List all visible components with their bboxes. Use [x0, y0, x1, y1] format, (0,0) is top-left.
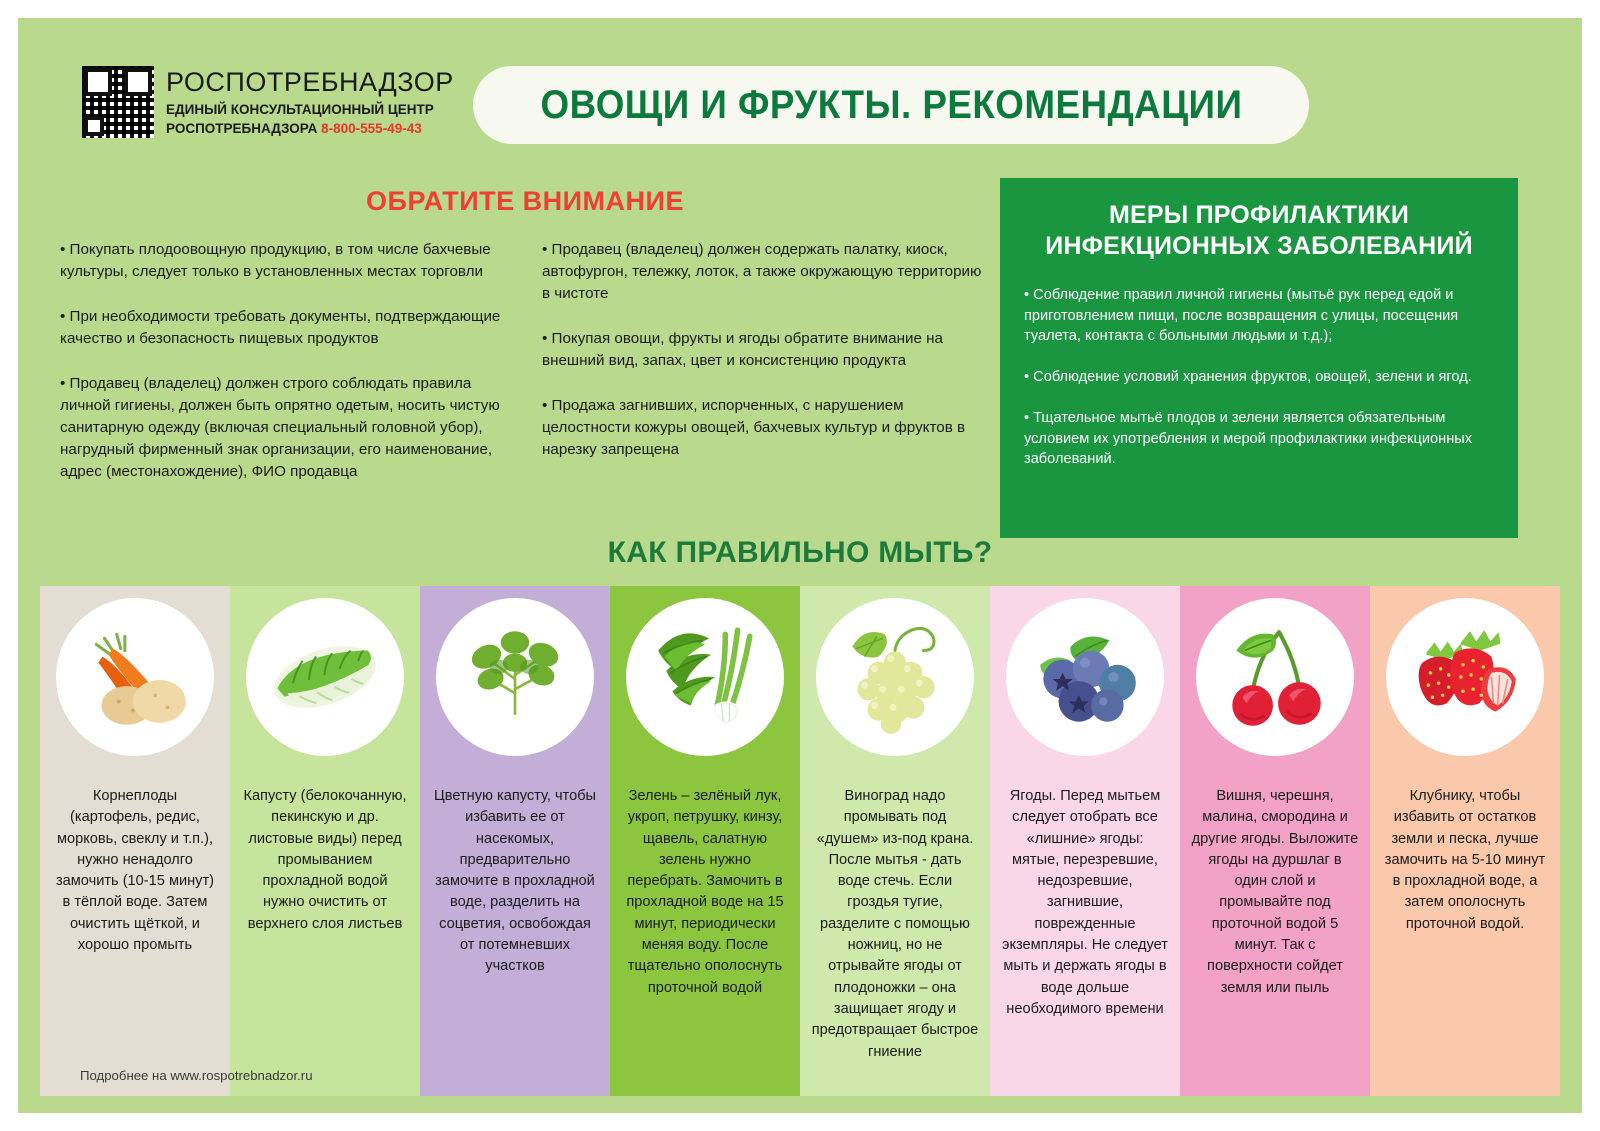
- image-circle: [626, 598, 784, 756]
- image-circle: [1386, 598, 1544, 756]
- blueberries-icon: [1024, 616, 1146, 738]
- stamp-notches-bottom: [0, 1113, 1600, 1131]
- cauliflower-icon: [454, 616, 576, 738]
- attention-item: • Продажа загнивших, испорченных, с нару…: [542, 395, 990, 461]
- howto-column-cabbage: Капусту (белокочанную, пекинскую и др. л…: [230, 586, 420, 1096]
- footer-note: Подробнее на www.rospotrebnadzor.ru: [80, 1068, 313, 1083]
- brand-name: РОСПОТРЕБНАДЗОР: [166, 68, 454, 96]
- carrot-potato-icon: [74, 616, 196, 738]
- image-circle: [1006, 598, 1164, 756]
- howto-column-cauliflower: Цветную капусту, чтобы избавить ее от на…: [420, 586, 610, 1096]
- attention-item: • Покупать плодоовощную продукцию, в том…: [60, 239, 508, 283]
- prevention-heading: МЕРЫ ПРОФИЛАКТИКИ ИНФЕКЦИОННЫХ ЗАБОЛЕВАН…: [1024, 200, 1494, 261]
- title-banner: ОВОЩИ И ФРУКТЫ. РЕКОМЕНДАЦИИ: [473, 66, 1309, 144]
- howto-column-cherries: Вишня, черешня, малина, смородина и друг…: [1180, 586, 1370, 1096]
- brand-block: РОСПОТРЕБНАДЗОР ЕДИНЫЙ КОНСУЛЬТАЦИОННЫЙ …: [82, 66, 454, 138]
- attention-column-left: • Покупать плодоовощную продукцию, в том…: [60, 239, 508, 506]
- page-title: ОВОЩИ И ФРУКТЫ. РЕКОМЕНДАЦИИ: [540, 83, 1242, 128]
- howto-column-text: Капусту (белокочанную, пекинскую и др. л…: [230, 786, 420, 935]
- howto-heading: КАК ПРАВИЛЬНО МЫТЬ?: [18, 536, 1582, 570]
- howto-column-greens: Зелень – зелёный лук, укроп, петрушку, к…: [610, 586, 800, 1096]
- howto-column-text: Зелень – зелёный лук, укроп, петрушку, к…: [610, 786, 800, 999]
- attention-heading: ОБРАТИТЕ ВНИМАНИЕ: [60, 186, 990, 217]
- prevention-item: • Соблюдение правил личной гигиены (мыть…: [1024, 285, 1494, 347]
- image-circle: [1196, 598, 1354, 756]
- brand-text: РОСПОТРЕБНАДЗОР ЕДИНЫЙ КОНСУЛЬТАЦИОННЫЙ …: [166, 66, 454, 138]
- attention-section: ОБРАТИТЕ ВНИМАНИЕ • Покупать плодоовощну…: [60, 186, 990, 506]
- attention-item: • Продавец (владелец) должен содержать п…: [542, 239, 990, 305]
- howto-column-text: Ягоды. Перед мытьем следует отобрать все…: [990, 786, 1180, 1020]
- prevention-box: МЕРЫ ПРОФИЛАКТИКИ ИНФЕКЦИОННЫХ ЗАБОЛЕВАН…: [1000, 178, 1518, 538]
- attention-item: • Продавец (владелец) должен строго собл…: [60, 373, 508, 483]
- brand-sub-line1: ЕДИНЫЙ КОНСУЛЬТАЦИОННЫЙ ЦЕНТР: [166, 102, 434, 117]
- image-circle: [816, 598, 974, 756]
- poster-canvas: РОСПОТРЕБНАДЗОР ЕДИНЫЙ КОНСУЛЬТАЦИОННЫЙ …: [18, 18, 1582, 1113]
- poster-root: РОСПОТРЕБНАДЗОР ЕДИНЫЙ КОНСУЛЬТАЦИОННЫЙ …: [0, 0, 1600, 1131]
- hotline-phone[interactable]: 8-800-555-49-43: [321, 121, 422, 136]
- howto-column-strawberries: Клубнику, чтобы избавить от остатков зем…: [1370, 586, 1560, 1096]
- qr-code-icon: [82, 66, 154, 138]
- attention-item: • Покупая овощи, фрукты и ягоды обратите…: [542, 328, 990, 372]
- prevention-item: • Соблюдение условий хранения фруктов, о…: [1024, 367, 1494, 388]
- howto-column-root-vegetables: Корнеплоды (картофель, редис, морковь, с…: [40, 586, 230, 1096]
- howto-column-grapes: Виноград надо промывать под «душем» из-п…: [800, 586, 990, 1096]
- image-circle: [436, 598, 594, 756]
- strawberries-icon: [1404, 616, 1526, 738]
- prevention-heading-line2: ИНФЕКЦИОННЫХ ЗАБОЛЕВАНИЙ: [1045, 232, 1473, 260]
- howto-columns-strip: Корнеплоды (картофель, редис, морковь, с…: [40, 586, 1560, 1096]
- stamp-notches-left: [0, 0, 18, 1131]
- napa-cabbage-icon: [264, 616, 386, 738]
- howto-column-text: Вишня, черешня, малина, смородина и друг…: [1180, 786, 1370, 999]
- grapes-icon: [834, 616, 956, 738]
- brand-sub-line2: РОСПОТРЕБНАДЗОРА: [166, 121, 317, 136]
- cherries-icon: [1214, 616, 1336, 738]
- brand-subtitle: ЕДИНЫЙ КОНСУЛЬТАЦИОННЫЙ ЦЕНТР РОСПОТРЕБН…: [166, 101, 454, 137]
- howto-column-berries: Ягоды. Перед мытьем следует отобрать все…: [990, 586, 1180, 1096]
- attention-item: • При необходимости требовать документы,…: [60, 306, 508, 350]
- howto-column-text: Виноград надо промывать под «душем» из-п…: [800, 786, 990, 1063]
- prevention-item: • Тщательное мытьё плодов и зелени являе…: [1024, 408, 1494, 470]
- image-circle: [56, 598, 214, 756]
- stamp-notches-top: [0, 0, 1600, 18]
- howto-column-text: Цветную капусту, чтобы избавить ее от на…: [420, 786, 610, 978]
- poster-header: РОСПОТРЕБНАДЗОР ЕДИНЫЙ КОНСУЛЬТАЦИОННЫЙ …: [18, 18, 1582, 168]
- image-circle: [246, 598, 404, 756]
- greens-onion-icon: [644, 616, 766, 738]
- prevention-heading-line1: МЕРЫ ПРОФИЛАКТИКИ: [1109, 201, 1409, 229]
- stamp-notches-right: [1582, 0, 1600, 1131]
- howto-column-text: Корнеплоды (картофель, редис, морковь, с…: [40, 786, 230, 956]
- howto-column-text: Клубнику, чтобы избавить от остатков зем…: [1370, 786, 1560, 935]
- attention-column-right: • Продавец (владелец) должен содержать п…: [542, 239, 990, 506]
